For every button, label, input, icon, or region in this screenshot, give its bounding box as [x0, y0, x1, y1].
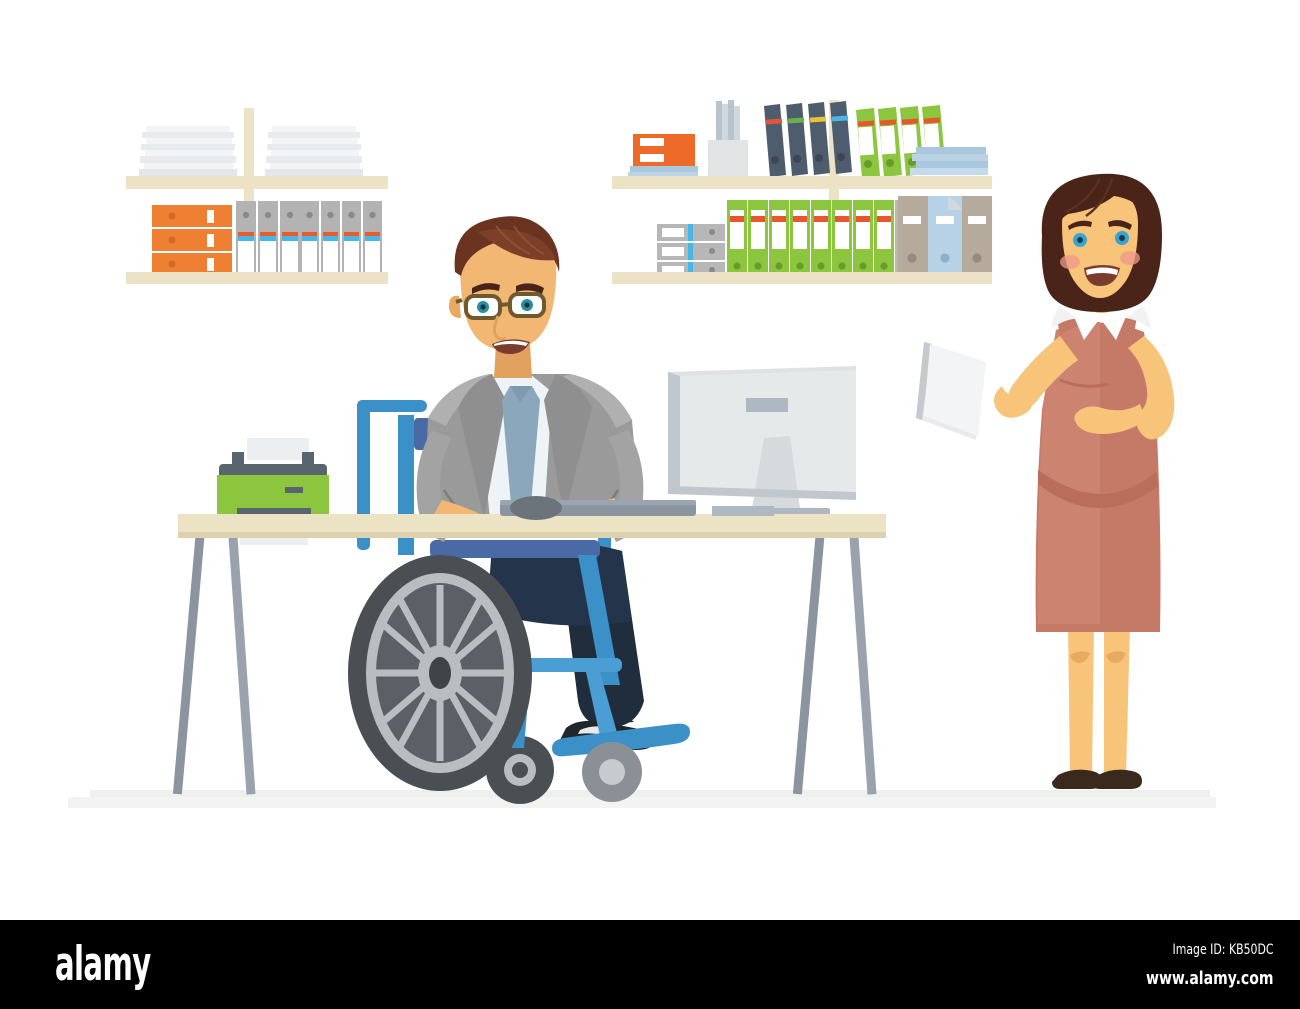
- alamy-url: www.alamy.com: [1146, 968, 1274, 989]
- desk-document-tray: [712, 506, 774, 516]
- artwork-area: [0, 0, 1300, 920]
- image-id-label: Image ID: KB50DC: [1173, 942, 1274, 958]
- mouse: [510, 496, 562, 520]
- wide-binders: [898, 196, 992, 279]
- wheelchair-main-wheel: [348, 555, 532, 791]
- right-shelf-board-upper: [612, 176, 992, 189]
- illustration-stage: alamy Image ID: KB50DC www.alamy.com: [0, 0, 1300, 1009]
- paper-stack-right: [265, 126, 363, 176]
- woman-head: [1042, 174, 1162, 312]
- orange-books: [628, 134, 698, 178]
- right-shelf-board-lower: [612, 272, 992, 284]
- blue-book-stack: [910, 147, 988, 175]
- shelf-board-upper: [126, 176, 388, 189]
- grey-lever-arch-files-a: [236, 201, 300, 275]
- desk-edge: [178, 532, 886, 538]
- monitor-badge: [746, 398, 788, 412]
- wheelchair-seat: [430, 540, 600, 558]
- shelf-board-lower: [126, 272, 388, 284]
- wheelchair-caster-wheel-rear: [582, 742, 642, 802]
- alamy-watermark-bar: alamy Image ID: KB50DC www.alamy.com: [0, 920, 1300, 1009]
- grey-box-files: [657, 224, 725, 279]
- paper-stack-left: [139, 126, 237, 176]
- floor-strip: [68, 790, 1216, 808]
- orange-box-files: [152, 205, 232, 275]
- printer-slot: [285, 487, 303, 493]
- office-scene-illustration: [0, 0, 1300, 920]
- alamy-logo: alamy: [55, 941, 151, 988]
- printer-paper-top: [247, 438, 309, 460]
- wheelchair-push-handle: [357, 400, 427, 412]
